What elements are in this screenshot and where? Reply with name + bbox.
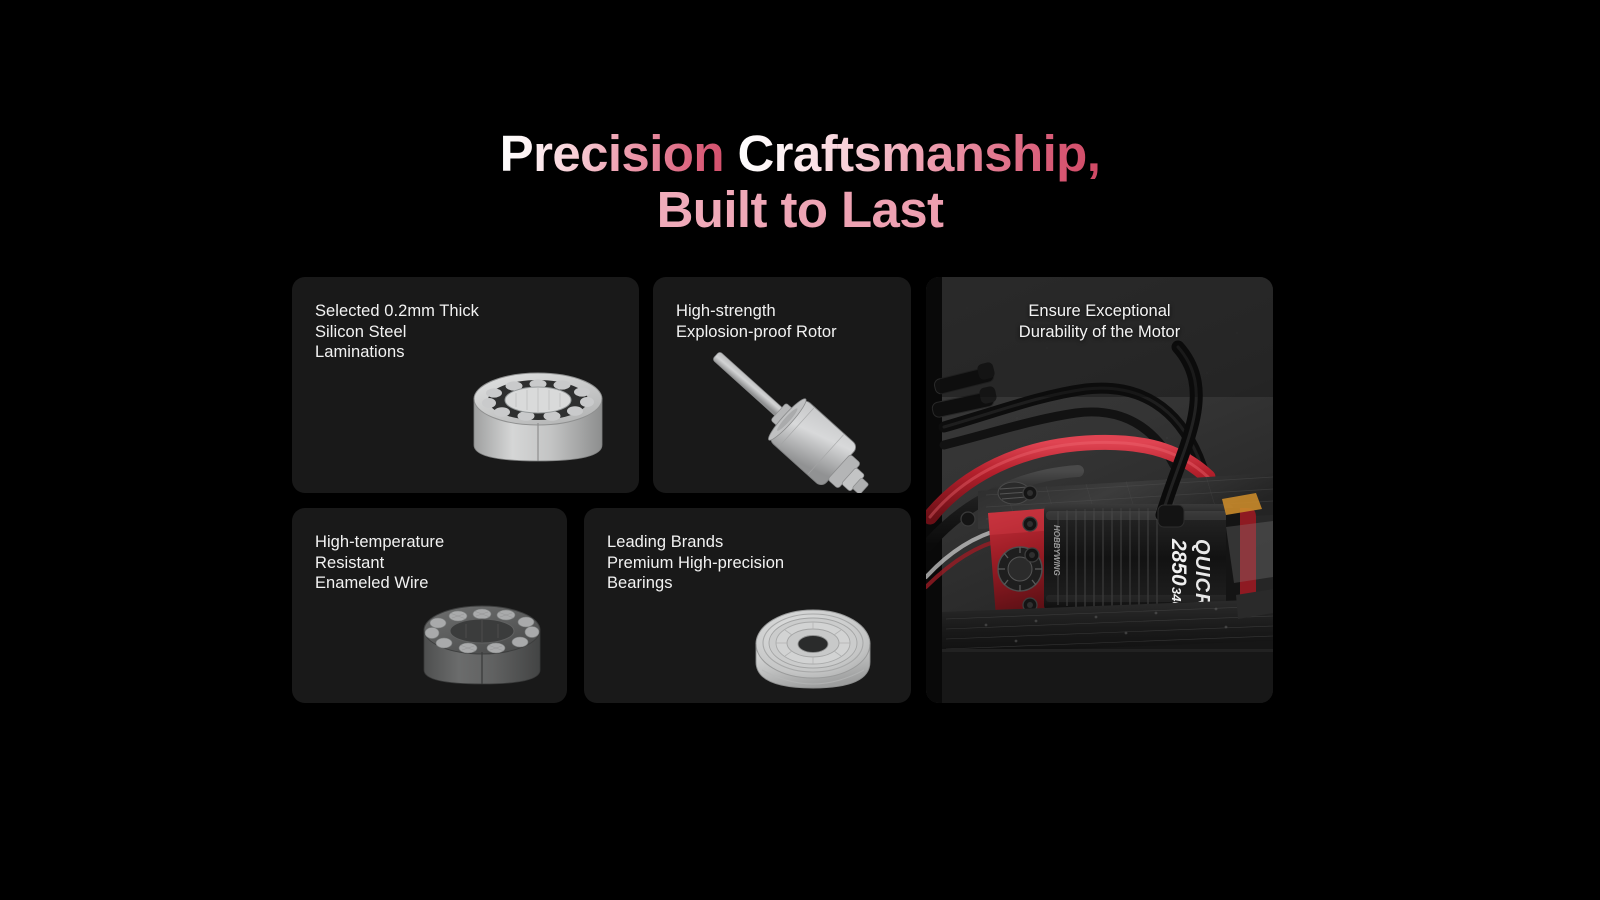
motor-model-text: 2850 [1167,538,1190,586]
card-enameled-wire[interactable]: High-temperature Resistant Enameled Wire [292,508,567,703]
page-title-line-2: Built to Last [0,182,1600,238]
slide-canvas: Precision Craftsmanship, Built to Last S… [0,0,1600,900]
svg-text:HOBBYWING: HOBBYWING [1052,525,1061,576]
card-title-bearings: Leading Brands Premium High-precision Be… [607,532,784,594]
enameled-wire-stator-icon [410,592,555,703]
card-precision-bearings[interactable]: Leading Brands Premium High-precision Be… [584,508,911,703]
card-motor-durability-photo[interactable]: QUICRUN 2850 3400KV HOBBYWING [926,277,1273,703]
card-explosion-proof-rotor[interactable]: High-strength Explosion-proof Rotor [653,277,911,493]
card-title-durability: Ensure Exceptional Durability of the Mot… [926,301,1273,342]
card-title-enameled-wire: High-temperature Resistant Enameled Wire [315,532,444,594]
page-title: Precision Craftsmanship, Built to Last [0,126,1600,238]
card-title-laminations: Selected 0.2mm Thick Silicon Steel Lamin… [315,301,479,363]
page-title-line-1: Precision Craftsmanship, [0,126,1600,182]
silicon-steel-lamination-stack-icon [458,357,618,487]
ball-bearing-icon [748,592,878,703]
page-title-line-1-accent: Craftsmanship, [737,125,1100,182]
card-silicon-steel-laminations[interactable]: Selected 0.2mm Thick Silicon Steel Lamin… [292,277,639,493]
card-title-rotor: High-strength Explosion-proof Rotor [676,301,837,342]
page-title-line-1-text: Precision [500,125,738,182]
motor-rotor-shaft-icon [685,349,895,493]
